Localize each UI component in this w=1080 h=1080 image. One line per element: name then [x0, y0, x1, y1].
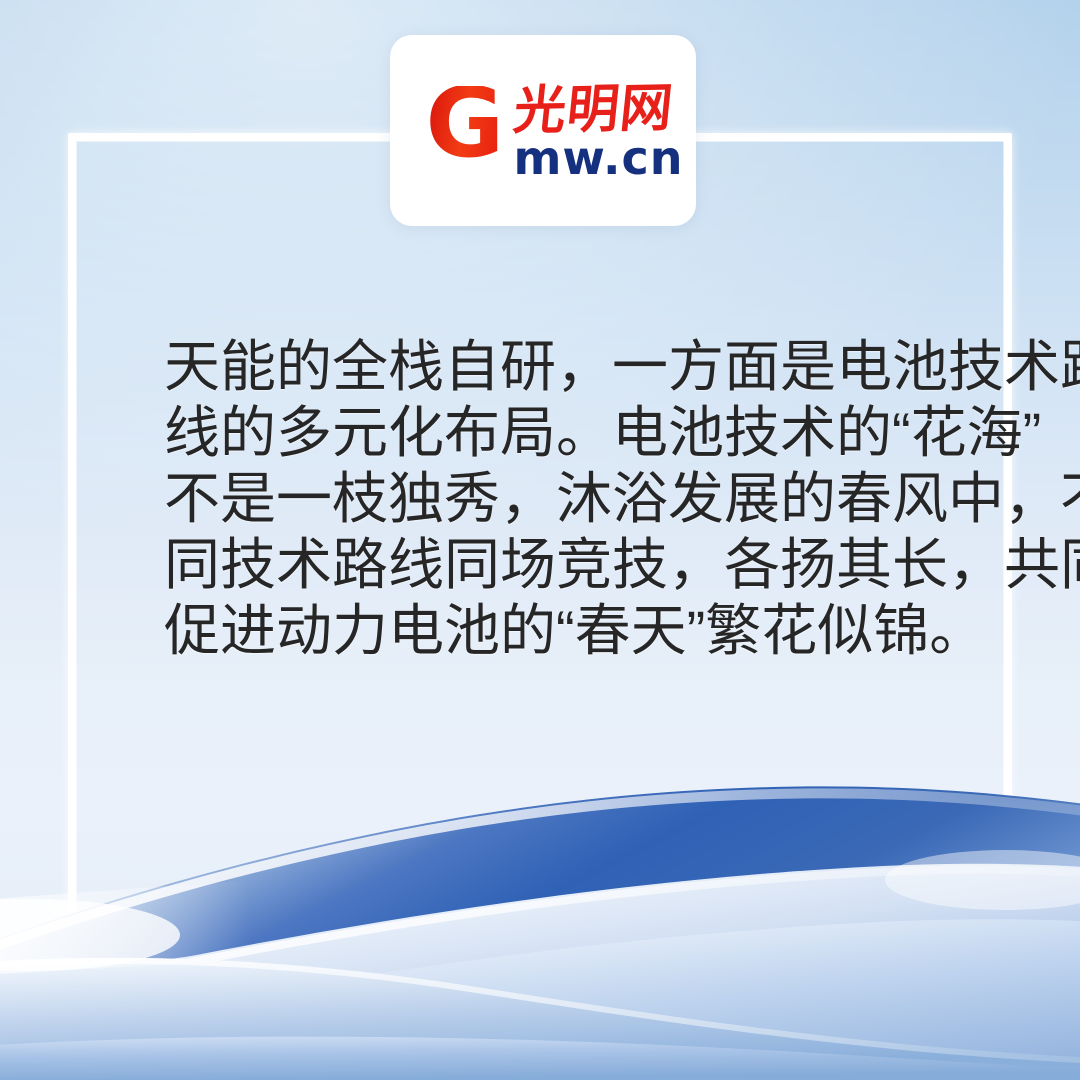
article-body: 天能的全栈自研，一方面是电池技术路 线的多元化布局。电池技术的“花海” 不是一枝… — [164, 334, 944, 664]
logo-chinese-name: 光明网 — [511, 81, 676, 138]
logo-card[interactable]: G 光明网 mw.cn — [390, 35, 696, 226]
article-line: 天能的全栈自研，一方面是电池技术路 — [164, 334, 944, 400]
logo-domain: mw.cn — [514, 135, 684, 181]
poster-canvas: G 光明网 mw.cn 天能的全栈自研，一方面是电池技术路 线的多元化布局。电池… — [0, 0, 1080, 1080]
logo-g-letter: G — [426, 86, 512, 160]
article-line: 促进动力电池的“春天”繁花似锦。 — [164, 598, 944, 664]
article-line: 线的多元化布局。电池技术的“花海” — [164, 400, 944, 466]
gmw-logo: G 光明网 mw.cn — [426, 83, 661, 179]
logo-g-mark: G — [426, 105, 512, 179]
article-line: 不是一枝独秀，沐浴发展的春风中，不 — [164, 466, 944, 532]
article-line: 同技术路线同场竞技，各扬其长，共同 — [164, 532, 944, 598]
